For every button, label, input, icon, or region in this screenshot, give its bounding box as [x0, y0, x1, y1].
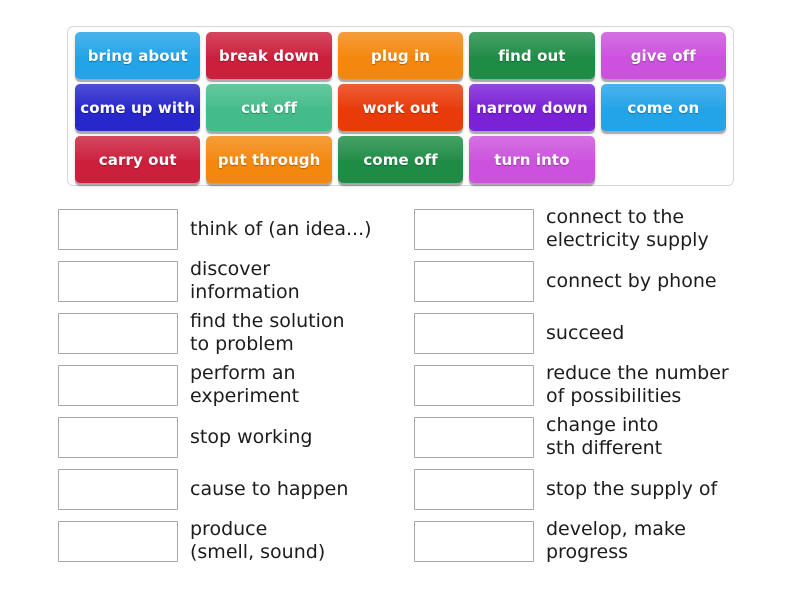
tile-label: bring about [88, 47, 188, 65]
answer-column-right: connect to the electricity supply connec… [414, 203, 729, 567]
drop-box[interactable] [414, 521, 534, 562]
drop-box[interactable] [414, 313, 534, 354]
definition-text: stop the supply of [546, 478, 717, 501]
tile-label: cut off [241, 99, 297, 117]
drop-box[interactable] [58, 313, 178, 354]
tile-label: work out [363, 99, 439, 117]
tile-put-through[interactable]: put through [206, 136, 331, 183]
tile-row: come up with cut off work out narrow dow… [72, 84, 729, 136]
answer-row: succeed [414, 307, 729, 359]
tile-find-out[interactable]: find out [469, 32, 594, 79]
answer-row: think of (an idea...) [58, 203, 372, 255]
answer-row: connect by phone [414, 255, 729, 307]
tile-work-out[interactable]: work out [338, 84, 463, 131]
tile-label: break down [219, 47, 319, 65]
tile-label: give off [631, 47, 696, 65]
drop-box[interactable] [58, 521, 178, 562]
definition-text: connect to the electricity supply [546, 206, 709, 252]
drop-box[interactable] [414, 417, 534, 458]
tile-plug-in[interactable]: plug in [338, 32, 463, 79]
answer-row: reduce the number of possibilities [414, 359, 729, 411]
answer-row: discover information [58, 255, 372, 307]
definition-text: perform an experiment [190, 362, 299, 408]
tile-label: come off [363, 151, 437, 169]
tile-label: put through [218, 151, 321, 169]
answer-row: change into sth different [414, 411, 729, 463]
answer-row: cause to happen [58, 463, 372, 515]
drop-box[interactable] [414, 469, 534, 510]
tile-break-down[interactable]: break down [206, 32, 331, 79]
tile-row: carry out put through come off turn into [72, 136, 729, 188]
tile-bank: bring about break down plug in find out … [67, 26, 734, 186]
drop-box[interactable] [58, 469, 178, 510]
drop-box[interactable] [58, 261, 178, 302]
drop-box[interactable] [414, 365, 534, 406]
tile-carry-out[interactable]: carry out [75, 136, 200, 183]
answer-row: develop, make progress [414, 515, 729, 567]
tile-label: find out [498, 47, 565, 65]
tile-slot-empty [601, 136, 726, 183]
drop-box[interactable] [414, 261, 534, 302]
drop-box[interactable] [58, 365, 178, 406]
tile-bring-about[interactable]: bring about [75, 32, 200, 79]
definition-text: discover information [190, 258, 300, 304]
tile-cut-off[interactable]: cut off [206, 84, 331, 131]
tile-turn-into[interactable]: turn into [469, 136, 594, 183]
tile-come-off[interactable]: come off [338, 136, 463, 183]
tile-row: bring about break down plug in find out … [72, 32, 729, 84]
answer-row: perform an experiment [58, 359, 372, 411]
definition-text: develop, make progress [546, 518, 686, 564]
drop-box[interactable] [58, 209, 178, 250]
tile-label: plug in [371, 47, 430, 65]
tile-come-on[interactable]: come on [601, 84, 726, 131]
answer-row: stop the supply of [414, 463, 729, 515]
tile-label: carry out [99, 151, 177, 169]
definition-text: find the solution to problem [190, 310, 345, 356]
definition-text: think of (an idea...) [190, 218, 372, 241]
answer-row: connect to the electricity supply [414, 203, 729, 255]
answer-row: produce (smell, sound) [58, 515, 372, 567]
tile-come-up-with[interactable]: come up with [75, 84, 200, 131]
drop-box[interactable] [58, 417, 178, 458]
definition-text: succeed [546, 322, 624, 345]
definition-text: connect by phone [546, 270, 717, 293]
definition-text: stop working [190, 426, 312, 449]
answer-column-left: think of (an idea...) discover informati… [58, 203, 372, 567]
definition-text: change into sth different [546, 414, 662, 460]
definition-text: produce (smell, sound) [190, 518, 325, 564]
answer-row: find the solution to problem [58, 307, 372, 359]
definition-text: reduce the number of possibilities [546, 362, 729, 408]
tile-give-off[interactable]: give off [601, 32, 726, 79]
tile-label: come on [627, 99, 699, 117]
tile-label: turn into [494, 151, 569, 169]
tile-label: narrow down [476, 99, 588, 117]
definition-text: cause to happen [190, 478, 348, 501]
drop-box[interactable] [414, 209, 534, 250]
answer-row: stop working [58, 411, 372, 463]
tile-narrow-down[interactable]: narrow down [469, 84, 594, 131]
tile-label: come up with [80, 99, 195, 117]
